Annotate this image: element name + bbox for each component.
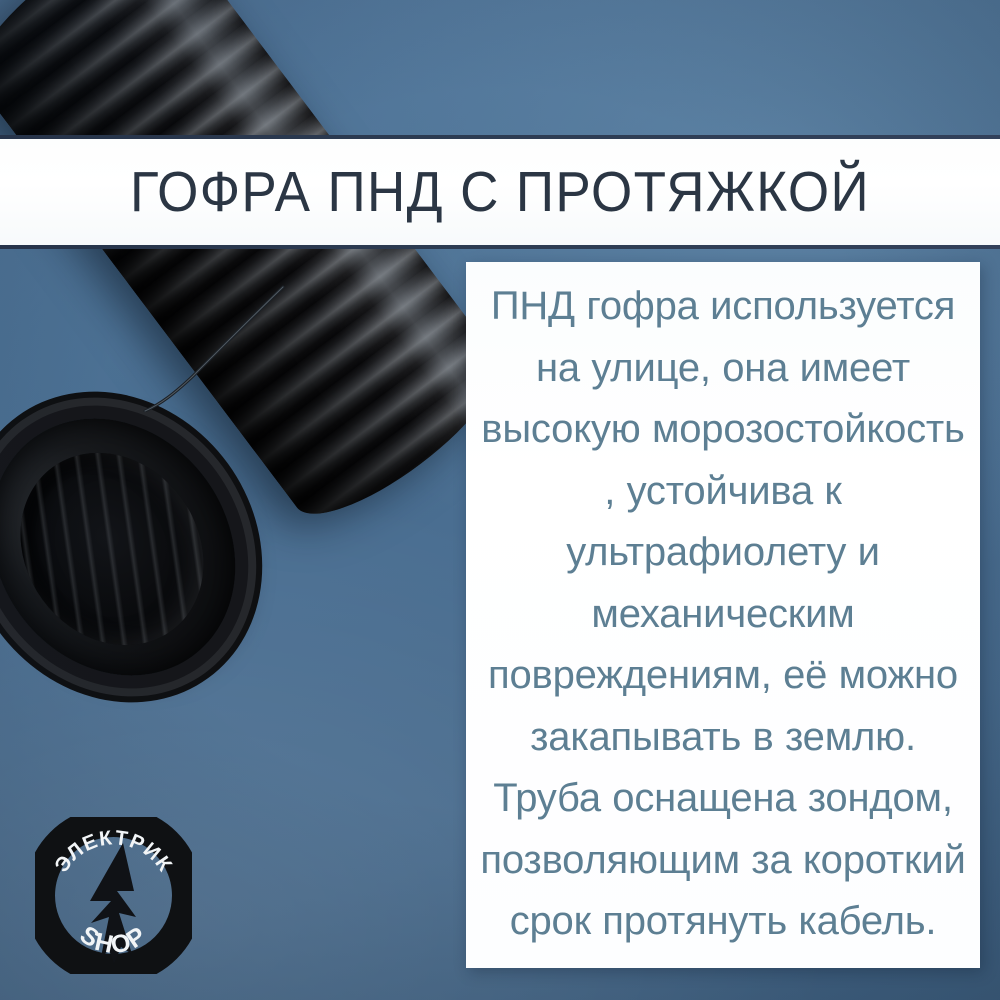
product-banner-canvas: ЭЛЕКТРИК SHOP ГОФРА ПНД С ПРОТЯЖКОЙ ПНД … (0, 0, 1000, 1000)
page-title: ГОФРА ПНД С ПРОТЯЖКОЙ (35, 139, 965, 246)
description-text: ПНД гофра используется на улице, она име… (474, 276, 972, 953)
description-card: ПНД гофра используется на улице, она име… (466, 262, 980, 968)
electrik-shop-logo: ЭЛЕКТРИК SHOP (35, 817, 192, 974)
